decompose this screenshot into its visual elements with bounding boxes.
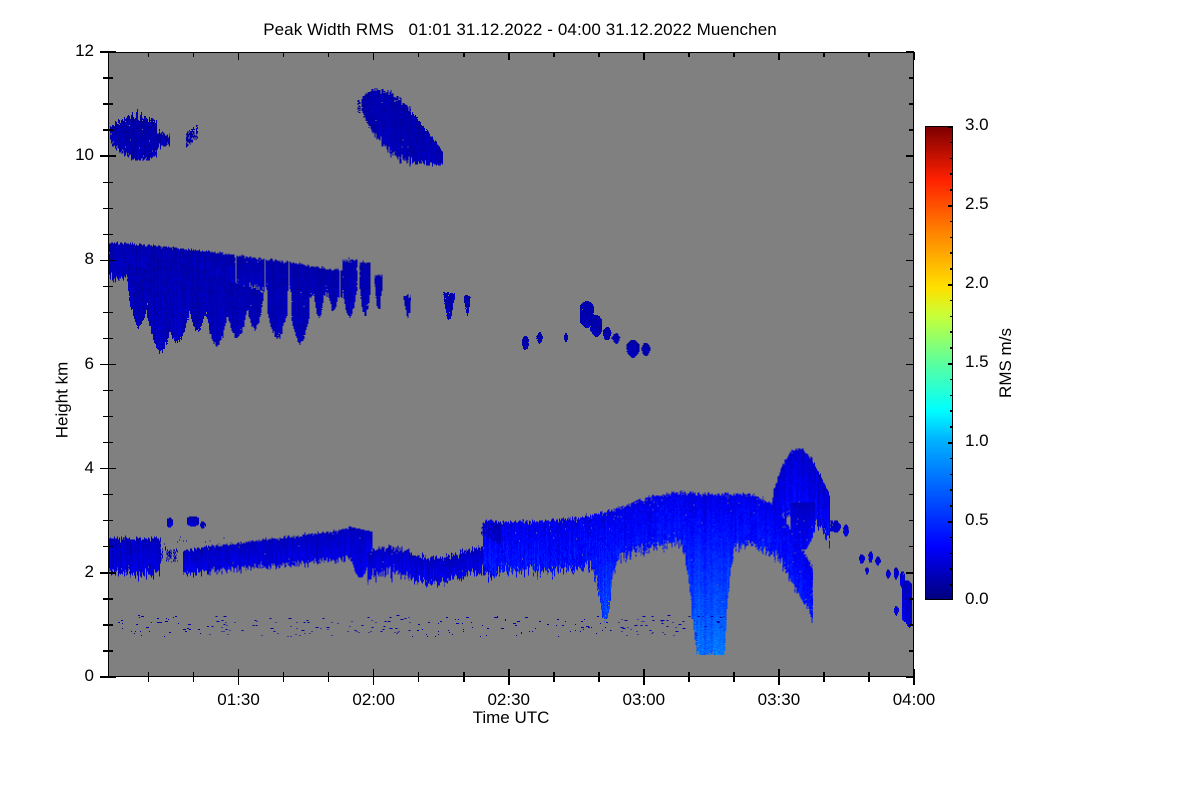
colorbar-tick-label: 0.5: [965, 510, 989, 530]
x-tick-minor: [283, 677, 284, 682]
x-tick-minor-top: [688, 52, 689, 57]
colorbar-tick: [948, 442, 953, 444]
colorbar-tick: [948, 521, 953, 523]
y-tick-minor-outer: [103, 624, 108, 625]
x-tick-minor-top: [823, 52, 824, 57]
colorbar-tick-minor: [950, 537, 953, 539]
y-tick-label: 4: [85, 458, 94, 478]
x-tick-minor: [598, 677, 599, 682]
x-tick-minor-inner: [148, 672, 149, 677]
x-tick-major-top: [238, 52, 240, 60]
y-tick-minor: [909, 442, 914, 443]
colorbar-title: RMS m/s: [996, 328, 1016, 398]
y-tick-major: [100, 468, 108, 470]
x-tick-major-top: [913, 52, 915, 60]
y-tick-minor-outer: [103, 338, 108, 339]
colorbar-tick-minor: [950, 189, 953, 191]
y-tick-major-right: [906, 364, 914, 366]
colorbar-tick-minor: [950, 300, 953, 302]
colorbar-tick-minor: [950, 584, 953, 586]
colorbar-tick-minor: [950, 347, 953, 349]
x-tick-label: 04:00: [869, 690, 959, 710]
y-tick-major-inner: [108, 468, 116, 470]
x-tick-minor: [823, 677, 824, 682]
figure-root: Peak Width RMS 01:01 31.12.2022 - 04:00 …: [0, 0, 1200, 800]
y-tick-label: 10: [75, 145, 94, 165]
colorbar-tick-label: 1.5: [965, 352, 989, 372]
y-tick-minor: [909, 338, 914, 339]
y-tick-minor: [108, 546, 113, 547]
colorbar-tick-minor: [950, 474, 953, 476]
y-tick-minor: [909, 208, 914, 209]
y-tick-label: 12: [75, 41, 94, 61]
y-tick-minor: [909, 598, 914, 599]
x-tick-major-top: [643, 52, 645, 60]
y-tick-minor: [108, 129, 113, 130]
y-tick-minor: [108, 208, 113, 209]
y-tick-minor-outer: [103, 312, 108, 313]
x-tick-minor: [463, 677, 464, 682]
x-tick-label: 02:30: [464, 690, 554, 710]
x-tick-label: 03:30: [734, 690, 824, 710]
y-tick-label: 6: [85, 354, 94, 374]
y-tick-minor: [909, 416, 914, 417]
y-tick-minor-outer: [103, 650, 108, 651]
y-tick-minor: [108, 624, 113, 625]
y-tick-minor: [108, 338, 113, 339]
x-tick-major-inner: [913, 669, 915, 677]
colorbar[interactable]: 0.00.51.01.52.02.53.0: [925, 126, 953, 600]
x-tick-minor-inner: [733, 672, 734, 677]
x-tick-minor-top: [598, 52, 599, 57]
x-tick-minor-inner: [868, 672, 869, 677]
x-tick-minor-top: [193, 52, 194, 57]
x-tick-major-inner: [373, 669, 375, 677]
x-tick-minor: [328, 677, 329, 682]
y-tick-major-inner: [108, 572, 116, 574]
x-tick-major-inner: [238, 669, 240, 677]
y-tick-minor-outer: [103, 103, 108, 104]
y-tick-minor: [108, 103, 113, 104]
colorbar-tick-minor: [950, 379, 953, 381]
y-tick-major: [100, 572, 108, 574]
x-tick-major: [238, 677, 240, 685]
x-tick-minor-inner: [463, 672, 464, 677]
y-tick-minor: [108, 312, 113, 313]
colorbar-tick-minor: [950, 568, 953, 570]
y-tick-minor: [909, 546, 914, 547]
x-tick-minor: [868, 677, 869, 682]
x-tick-major-inner: [778, 669, 780, 677]
x-tick-minor-top: [418, 52, 419, 57]
colorbar-tick-label: 0.0: [965, 589, 989, 609]
x-tick-major: [643, 677, 645, 685]
colorbar-tick: [948, 205, 953, 207]
x-tick-minor-top: [328, 52, 329, 57]
y-tick-minor: [909, 182, 914, 183]
x-tick-minor-inner: [823, 672, 824, 677]
y-tick-minor: [108, 520, 113, 521]
heatmap-plot-area[interactable]: [108, 52, 914, 677]
colorbar-tick-minor: [950, 331, 953, 333]
colorbar-tick-minor: [950, 173, 953, 175]
colorbar-tick-minor: [950, 410, 953, 412]
x-tick-minor: [418, 677, 419, 682]
y-tick-major-right: [906, 155, 914, 157]
y-tick-minor-outer: [103, 77, 108, 78]
y-tick-minor: [909, 77, 914, 78]
x-tick-minor-top: [868, 52, 869, 57]
colorbar-tick-label: 3.0: [965, 115, 989, 135]
x-tick-major: [373, 677, 375, 685]
colorbar-tick-label: 1.0: [965, 431, 989, 451]
y-tick-minor-outer: [103, 546, 108, 547]
x-tick-major-top: [508, 52, 510, 60]
x-tick-minor-top: [463, 52, 464, 57]
x-tick-minor-top: [283, 52, 284, 57]
x-tick-major: [508, 677, 510, 685]
y-tick-minor: [108, 182, 113, 183]
colorbar-tick-minor: [950, 268, 953, 270]
y-tick-minor: [108, 442, 113, 443]
x-tick-minor-inner: [418, 672, 419, 677]
y-tick-minor: [909, 312, 914, 313]
y-tick-minor: [108, 286, 113, 287]
x-tick-minor-inner: [688, 672, 689, 677]
y-tick-major-right: [906, 468, 914, 470]
y-tick-minor-outer: [103, 129, 108, 130]
y-tick-minor: [108, 77, 113, 78]
x-tick-minor: [688, 677, 689, 682]
y-tick-minor: [909, 390, 914, 391]
x-tick-major-top: [778, 52, 780, 60]
colorbar-tick-label: 2.0: [965, 273, 989, 293]
x-tick-minor-inner: [283, 672, 284, 677]
x-tick-major: [778, 677, 780, 685]
y-tick-minor: [108, 650, 113, 651]
colorbar-tick: [948, 284, 953, 286]
colorbar-tick-minor: [950, 316, 953, 318]
y-tick-minor: [909, 234, 914, 235]
y-tick-major-inner: [108, 676, 116, 678]
colorbar-tick-minor: [950, 252, 953, 254]
y-tick-minor-outer: [103, 494, 108, 495]
y-axis-title: Height km: [52, 362, 72, 439]
x-tick-label: 01:30: [194, 690, 284, 710]
y-tick-minor: [909, 520, 914, 521]
colorbar-tick-minor: [950, 489, 953, 491]
y-tick-major: [100, 155, 108, 157]
y-tick-minor-outer: [103, 598, 108, 599]
y-tick-minor: [108, 390, 113, 391]
colorbar-tick: [948, 599, 953, 601]
y-tick-minor: [909, 286, 914, 287]
y-tick-major: [100, 676, 108, 678]
y-tick-major: [100, 51, 108, 53]
y-tick-minor: [909, 494, 914, 495]
x-tick-minor: [148, 677, 149, 682]
x-tick-minor-top: [553, 52, 554, 57]
y-tick-major-inner: [108, 155, 116, 157]
x-tick-minor-top: [148, 52, 149, 57]
colorbar-tick-minor: [950, 237, 953, 239]
x-tick-minor-inner: [598, 672, 599, 677]
colorbar-tick-minor: [950, 158, 953, 160]
x-tick-minor-inner: [553, 672, 554, 677]
y-tick-minor-outer: [103, 520, 108, 521]
colorbar-tick: [948, 126, 953, 128]
x-tick-major-top: [373, 52, 375, 60]
colorbar-tick-label: 2.5: [965, 194, 989, 214]
x-tick-major: [913, 677, 915, 685]
y-tick-major-inner: [108, 51, 116, 53]
y-tick-minor-outer: [103, 208, 108, 209]
y-tick-minor: [909, 129, 914, 130]
y-tick-minor-outer: [103, 182, 108, 183]
x-tick-major-inner: [643, 669, 645, 677]
y-tick-label: 8: [85, 249, 94, 269]
y-tick-major: [100, 364, 108, 366]
x-tick-minor-inner: [328, 672, 329, 677]
y-tick-label: 0: [85, 666, 94, 686]
y-tick-major-inner: [108, 364, 116, 366]
y-tick-minor: [108, 494, 113, 495]
x-tick-minor-top: [733, 52, 734, 57]
y-tick-minor-outer: [103, 442, 108, 443]
x-tick-minor: [193, 677, 194, 682]
page-title: Peak Width RMS 01:01 31.12.2022 - 04:00 …: [0, 20, 1040, 40]
x-tick-major-inner: [508, 669, 510, 677]
time-height-field-canvas: [109, 53, 913, 676]
y-tick-minor: [108, 416, 113, 417]
y-tick-major-right: [906, 572, 914, 574]
y-tick-major-right: [906, 260, 914, 262]
colorbar-tick-minor: [950, 221, 953, 223]
y-tick-minor-outer: [103, 416, 108, 417]
y-tick-minor: [108, 598, 113, 599]
y-tick-label: 2: [85, 562, 94, 582]
x-tick-label: 02:00: [329, 690, 419, 710]
x-tick-minor: [553, 677, 554, 682]
colorbar-tick: [948, 363, 953, 365]
y-tick-minor-outer: [103, 286, 108, 287]
y-tick-minor: [108, 234, 113, 235]
x-tick-label: 03:00: [599, 690, 689, 710]
colorbar-tick-minor: [950, 553, 953, 555]
y-tick-minor-outer: [103, 234, 108, 235]
colorbar-tick-minor: [950, 505, 953, 507]
y-tick-major-inner: [108, 260, 116, 262]
colorbar-tick-minor: [950, 458, 953, 460]
x-axis-title: Time UTC: [108, 708, 914, 728]
y-tick-minor: [909, 624, 914, 625]
y-tick-minor: [909, 103, 914, 104]
y-tick-minor-outer: [103, 390, 108, 391]
colorbar-tick-minor: [950, 426, 953, 428]
y-tick-major: [100, 260, 108, 262]
colorbar-tick-minor: [950, 395, 953, 397]
y-tick-minor: [909, 650, 914, 651]
x-tick-minor: [733, 677, 734, 682]
x-tick-minor-inner: [193, 672, 194, 677]
colorbar-tick-minor: [950, 142, 953, 144]
